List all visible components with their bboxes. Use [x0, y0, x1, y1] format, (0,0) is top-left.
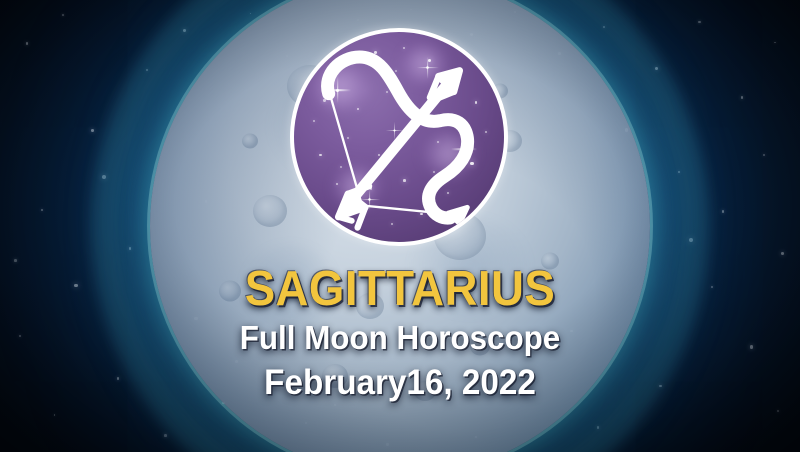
subtitle: Full Moon Horoscope: [20, 316, 780, 360]
horoscope-poster: SAGITTARIUS Full Moon Horoscope February…: [0, 0, 800, 452]
date-label: February16, 2022: [20, 360, 780, 406]
sagittarius-emblem: [290, 28, 508, 246]
page-title: SAGITTARIUS: [28, 262, 772, 316]
sagittarius-bow-and-arrow-icon: [294, 32, 504, 242]
title-block: SAGITTARIUS Full Moon Horoscope February…: [0, 262, 800, 406]
